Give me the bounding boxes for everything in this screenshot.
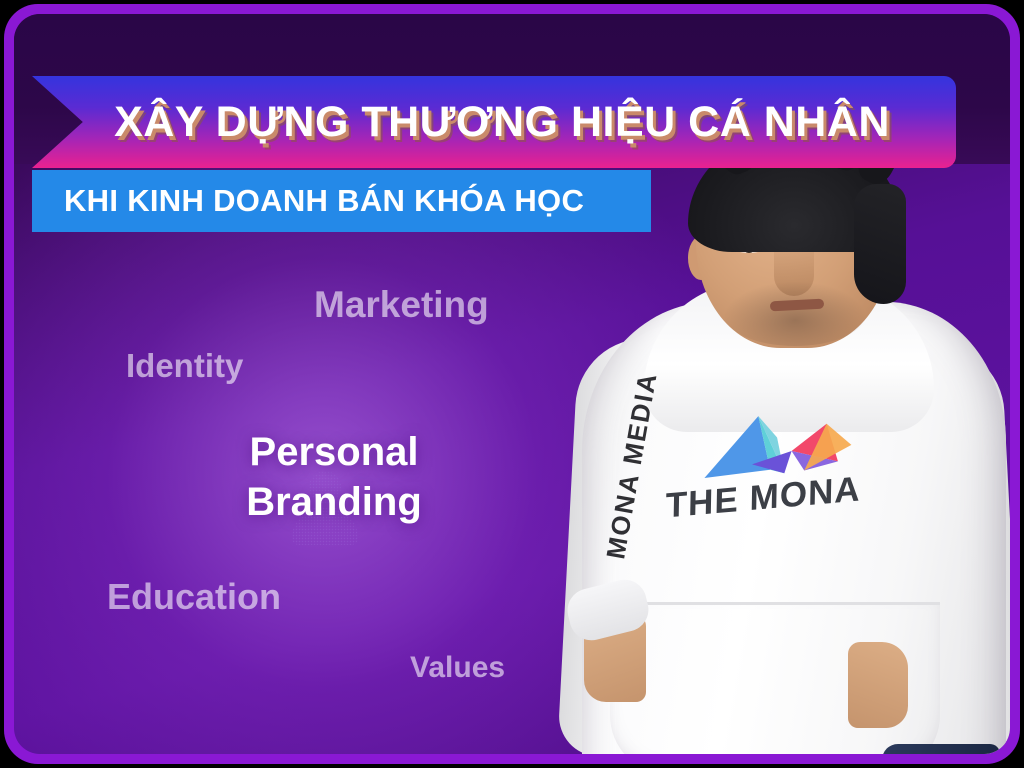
chest-logo: THE MONA [650,404,874,524]
banner-stage: THE MONA MONA MEDIA Marketing Identity E… [14,14,1010,754]
headline-text: XÂY DỰNG THƯƠNG HIỆU CÁ NHÂN [98,98,890,147]
headline-ribbon: XÂY DỰNG THƯƠNG HIỆU CÁ NHÂN [32,76,956,168]
subheadline-bar: KHI KINH DOANH BÁN KHÓA HỌC [32,170,651,232]
beard-stubble [724,282,866,346]
center-keyword-line1: Personal [164,427,504,477]
hair-side [854,184,906,304]
keyword-marketing: Marketing [314,284,489,326]
keyword-identity: Identity [126,347,243,385]
center-keyword: Personal Branding [164,427,504,527]
keyword-education: Education [107,576,281,618]
center-keyword-line2: Branding [164,477,504,527]
right-hand [848,642,908,728]
subheadline-text: KHI KINH DOANH BÁN KHÓA HỌC [32,183,584,219]
keyword-values: Values [410,651,505,685]
promo-banner: THE MONA MONA MEDIA Marketing Identity E… [0,0,1024,768]
jeans [882,744,1000,754]
